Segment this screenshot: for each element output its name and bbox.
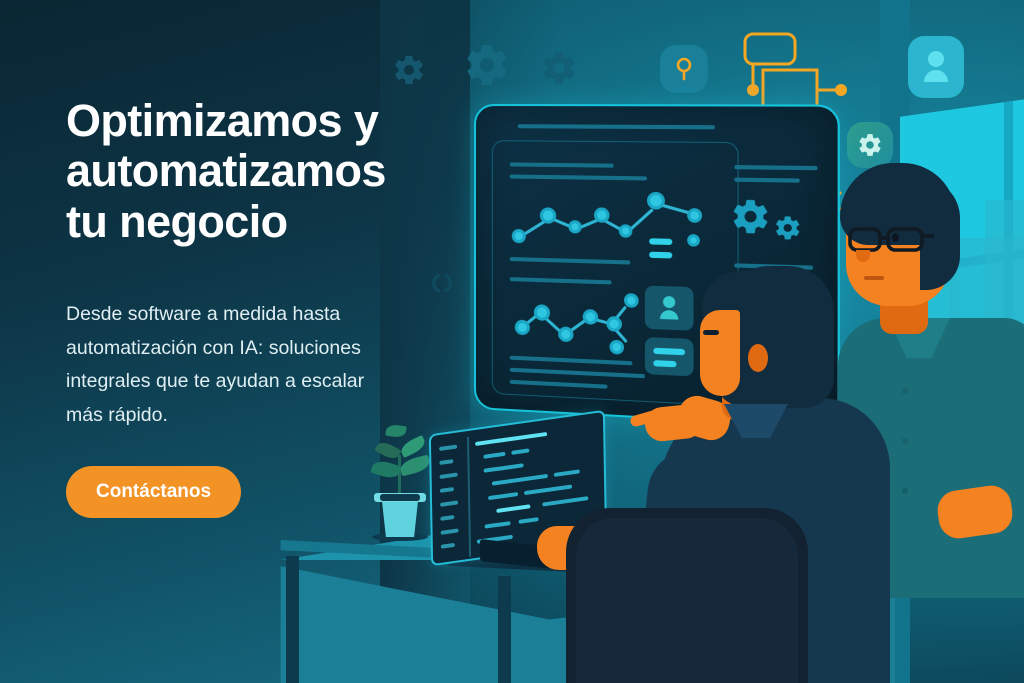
code-line [488,492,518,500]
analytics-chart-bottom [510,283,654,358]
shirt-button [902,438,908,444]
gear-icon-large [463,41,511,89]
person-mouth [864,276,884,280]
chart-node [619,224,633,238]
gear-icon-medium [540,49,578,87]
chart-node [540,207,556,224]
user-avatar-tile-icon [908,36,964,98]
code-gutter-line [441,543,455,549]
gear-icon [773,214,802,242]
code-line [485,521,511,529]
gear-icon [730,196,771,237]
code-gutter-line [439,459,453,465]
desk-leg [498,576,511,683]
chart-node [583,309,598,325]
person-icon [921,49,951,85]
code-brackets-icon-faint [428,272,456,294]
code-line [496,504,530,513]
chart-node [512,229,526,243]
settings-gear-tile-icon [847,122,893,168]
chart-node [558,326,573,342]
hero-banner: Optimizamos y automatizamos tu negocio D… [0,0,1024,683]
code-gutter-line [440,472,458,479]
chart-node [687,208,702,223]
code-gutter-line [441,528,459,535]
metric-bar [649,238,672,245]
chart-node [515,320,530,336]
gear-icon [857,132,883,158]
chart-node [610,340,625,355]
plant-soil [380,494,420,501]
code-gutter-line [439,445,457,452]
chart-node [624,293,639,308]
desk-leg [286,556,299,683]
gear-icon-small [392,53,426,87]
chart-node [594,207,609,223]
analytics-chart-top [508,185,704,253]
code-gutter-line [440,515,454,521]
code-line [492,474,548,486]
chart-node [687,234,700,247]
shirt-button [902,388,908,394]
person-ear [748,344,768,372]
chair-highlight [576,518,798,683]
chart-node [647,192,665,210]
detail-card [645,337,694,376]
page-subtitle: Desde software a medida hasta automatiza… [66,298,438,432]
person-eyebrow [703,330,719,335]
code-line [542,496,588,506]
code-line [554,469,580,477]
card-line [653,360,676,367]
code-line [475,432,547,446]
code-gutter-line [440,500,458,507]
metric-bar [649,252,672,259]
code-line [524,484,572,495]
person-icon [658,294,681,322]
person-face-profile [700,310,740,396]
contact-button[interactable]: Contáctanos [66,466,241,518]
person-eye [892,233,899,242]
code-line [519,517,539,524]
shirt-button [902,488,908,494]
chart-node [568,220,581,234]
code-line [484,463,524,473]
chart-node [606,316,622,332]
code-line [483,452,505,459]
search-icon [672,56,696,82]
code-gutter-line [440,487,454,493]
profile-card [645,286,694,331]
plant-stem [398,455,401,497]
search-icon-tile [660,45,708,93]
page-title: Optimizamos y automatizamos tu negocio [66,96,466,247]
chart-node [534,304,550,321]
code-line [511,448,529,455]
card-line [653,348,685,356]
